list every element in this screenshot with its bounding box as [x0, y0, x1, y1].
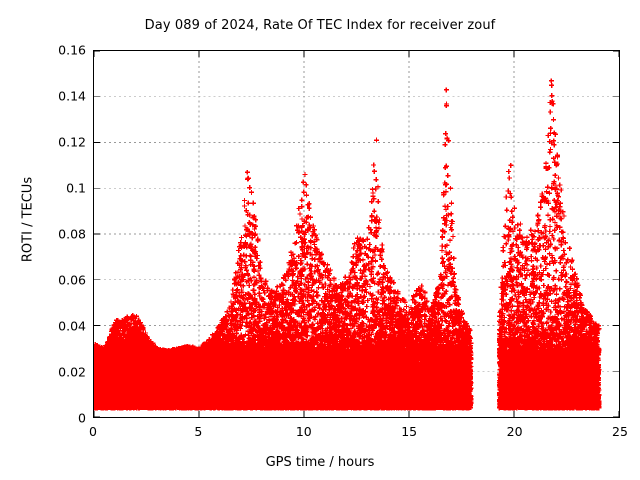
chart-root: Day 089 of 2024, Rate Of TEC Index for r…	[0, 0, 640, 480]
data-points-layer	[94, 51, 619, 417]
y-tick-label: 0.04	[26, 319, 86, 334]
roti-scatter-points	[94, 78, 602, 410]
y-tick-label: 0.02	[26, 365, 86, 380]
y-tick-label: 0.14	[26, 89, 86, 104]
y-tick-label: 0.16	[26, 43, 86, 58]
x-tick-label: 25	[595, 424, 640, 439]
plot-area	[93, 50, 620, 418]
x-tick-label: 0	[68, 424, 118, 439]
x-axis-tick-labels: 0510152025	[93, 424, 620, 444]
x-tick-label: 20	[490, 424, 540, 439]
x-axis-label: GPS time / hours	[0, 455, 640, 470]
x-tick-label: 5	[173, 424, 223, 439]
x-tick-label: 10	[279, 424, 329, 439]
chart-title: Day 089 of 2024, Rate Of TEC Index for r…	[0, 18, 640, 33]
x-tick-label: 15	[384, 424, 434, 439]
y-axis-label: ROTI / TECUs	[21, 140, 36, 300]
